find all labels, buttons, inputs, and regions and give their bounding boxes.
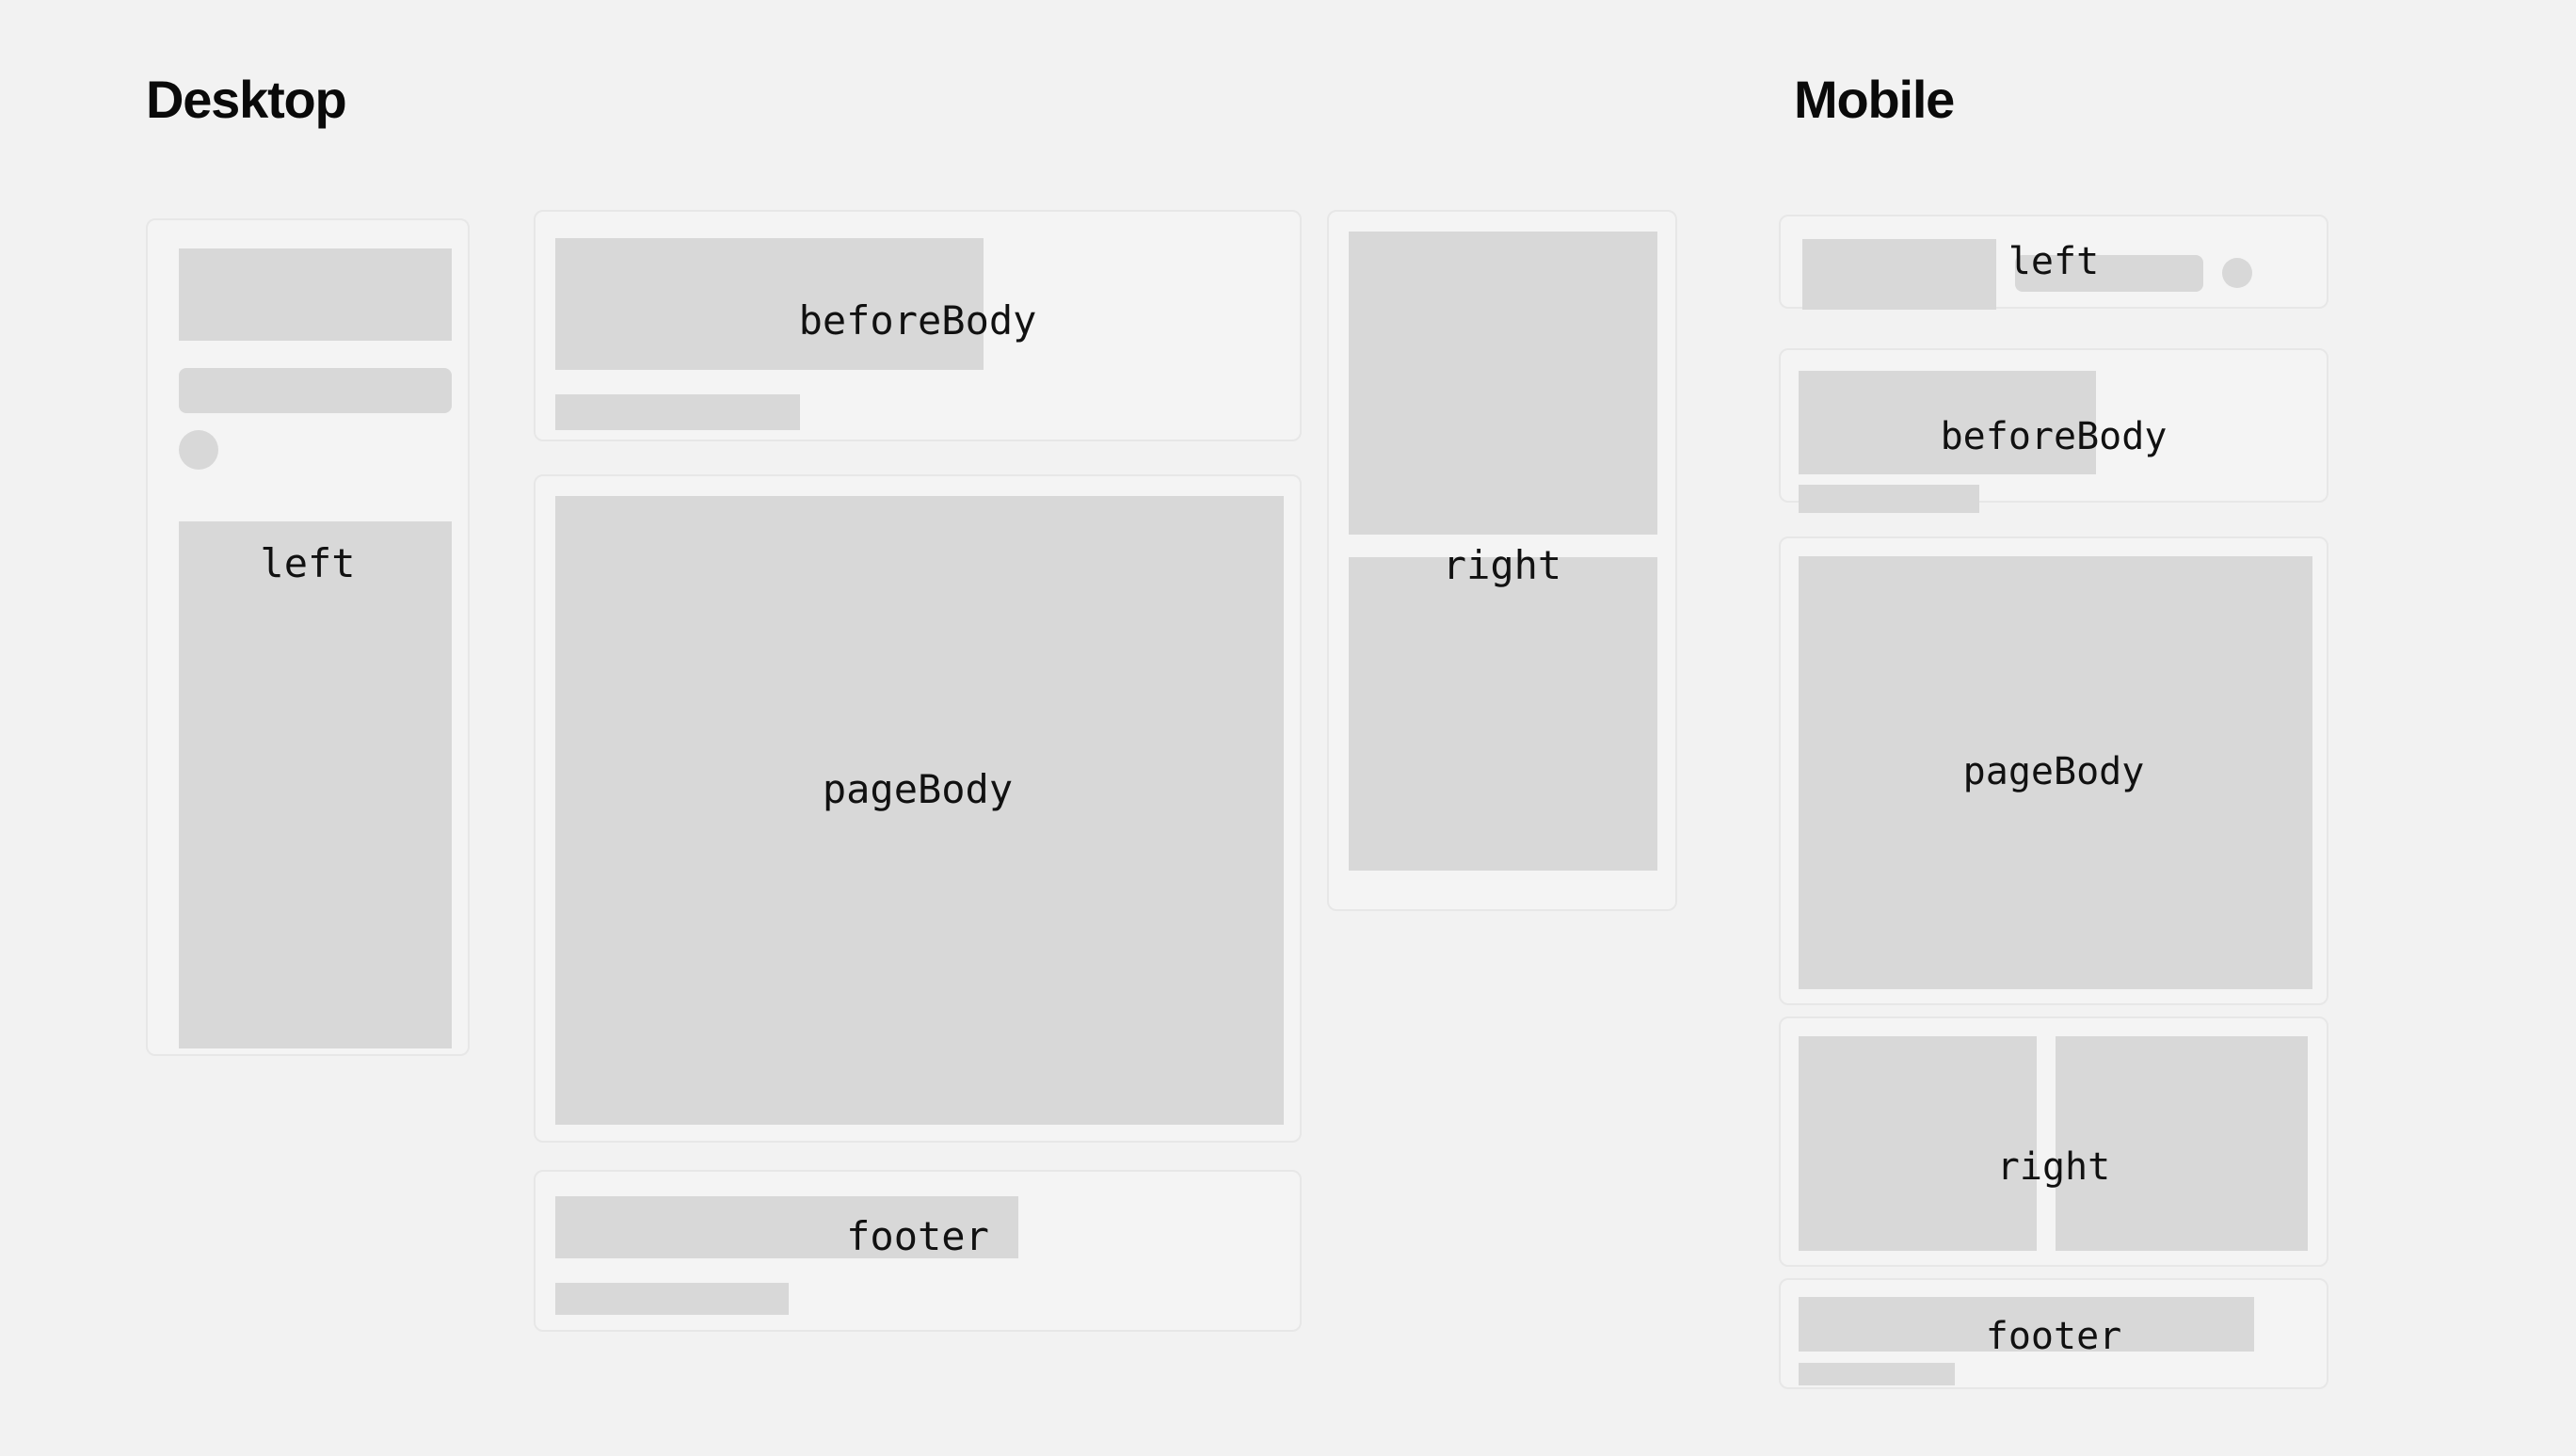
skeleton-block: [1802, 239, 1996, 310]
desktop-right-panel[interactable]: [1327, 210, 1677, 911]
skeleton-bar: [555, 1283, 789, 1315]
skeleton-block: [2056, 1036, 2308, 1251]
skeleton-bar: [1799, 485, 1979, 513]
mobile-pagebody-panel[interactable]: [1779, 536, 2328, 1005]
skeleton-block: [1349, 557, 1657, 871]
skeleton-avatar-circle: [179, 430, 218, 470]
skeleton-bar: [555, 1196, 1018, 1258]
mobile-left-panel[interactable]: [1779, 215, 2328, 309]
desktop-footer-panel[interactable]: [534, 1170, 1302, 1332]
skeleton-block: [1799, 556, 2312, 989]
section-title-desktop: Desktop: [146, 73, 346, 126]
skeleton-block: [555, 496, 1284, 1125]
skeleton-block: [1799, 1036, 2037, 1251]
skeleton-bar: [1799, 1363, 1955, 1385]
skeleton-bar: [179, 368, 452, 413]
mobile-right-panel[interactable]: [1779, 1016, 2328, 1267]
desktop-pagebody-panel[interactable]: [534, 474, 1302, 1143]
skeleton-avatar-circle: [2222, 258, 2252, 288]
desktop-beforebody-panel[interactable]: [534, 210, 1302, 441]
mobile-footer-panel[interactable]: [1779, 1278, 2328, 1389]
section-title-mobile: Mobile: [1794, 73, 1954, 126]
mobile-beforebody-panel[interactable]: [1779, 348, 2328, 503]
skeleton-block: [1799, 371, 2096, 474]
wireframe-canvas: Desktop left beforeBody pageBody right f…: [0, 0, 2576, 1456]
skeleton-block: [1349, 232, 1657, 535]
skeleton-bar: [1799, 1297, 2254, 1352]
skeleton-bar: [2015, 255, 2203, 292]
skeleton-block: [179, 248, 452, 341]
skeleton-bar: [555, 394, 800, 430]
desktop-left-panel[interactable]: [146, 218, 470, 1056]
skeleton-block: [555, 238, 984, 370]
skeleton-block: [179, 521, 452, 1048]
